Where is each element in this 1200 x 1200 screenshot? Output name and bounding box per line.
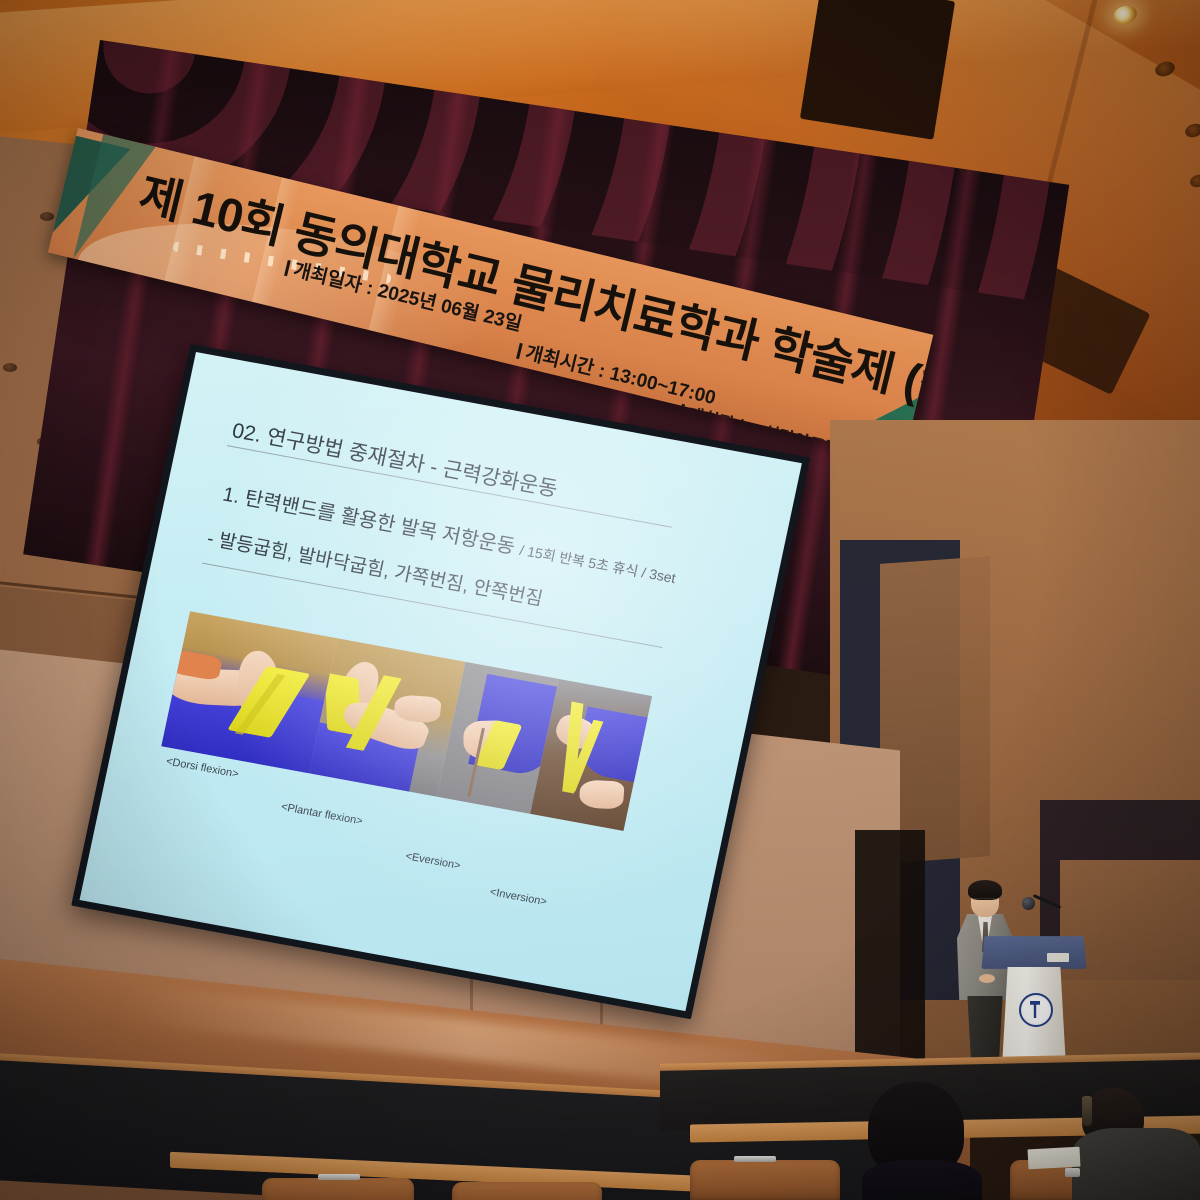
audience-member-left	[862, 1082, 992, 1200]
photo-inversion	[530, 679, 652, 831]
podium-nameplate	[1047, 953, 1069, 962]
presenter-hand	[979, 974, 995, 983]
photo-plantar-flexion	[309, 638, 466, 797]
microphone-icon	[1022, 897, 1035, 910]
seat-hinge-1	[318, 1174, 360, 1180]
podium-desktop	[981, 936, 1086, 969]
slide-title-rule	[227, 445, 672, 528]
slide-surface: 02. 연구방법 중재절차 - 근력강화운동 1. 탄력밴드를 활용한 발목 저…	[80, 352, 802, 1011]
glasses-icon	[973, 898, 997, 904]
ceiling-recess-panel	[800, 0, 955, 140]
slide-item-rule	[202, 563, 663, 648]
projection-screen: 02. 연구방법 중재절차 - 근력강화운동 1. 탄력밴드를 활용한 발목 저…	[80, 352, 802, 1011]
slide-section-title: 02. 연구방법 중재절차 - 근력강화운동	[230, 414, 561, 503]
photo-eversion	[437, 662, 559, 814]
photo-dorsi-flexion	[161, 611, 337, 773]
presenter-hair	[968, 880, 1002, 900]
seat-3	[690, 1160, 840, 1200]
water-bottle	[1082, 1096, 1092, 1126]
photo-caption-plantar: <Plantar flexion>	[280, 801, 364, 828]
slide-photo-strip	[161, 611, 652, 831]
seat-2	[452, 1182, 602, 1200]
slide-item-2: - 발등굽힘, 발바닥굽힘, 가쪽번짐, 안쪽번짐	[205, 523, 545, 611]
wall-bolt-3	[3, 363, 17, 372]
auditorium-photo: 제 10회 동의대학교 물리치료학과 학술제 (캡스톤 디자인 교과 성과발표회…	[0, 0, 1200, 1200]
seat-hinge-3	[734, 1156, 776, 1162]
wristwatch	[1065, 1168, 1080, 1177]
handout-paper	[1028, 1147, 1081, 1170]
slide-item-1: 1. 탄력밴드를 활용한 발목 저항운동 / 15회 반복 5초 휴식 / 3s…	[221, 478, 680, 589]
wall-bolt-1	[40, 212, 54, 221]
photo-caption-inversion: <Inversion>	[489, 886, 548, 908]
photo-caption-dorsi: <Dorsi flexion>	[165, 755, 240, 780]
seat-1	[262, 1178, 414, 1200]
university-crest-icon	[1019, 993, 1053, 1027]
photo-caption-eversion: <Eversion>	[404, 850, 461, 872]
stage-wing-curtain	[855, 830, 925, 1090]
